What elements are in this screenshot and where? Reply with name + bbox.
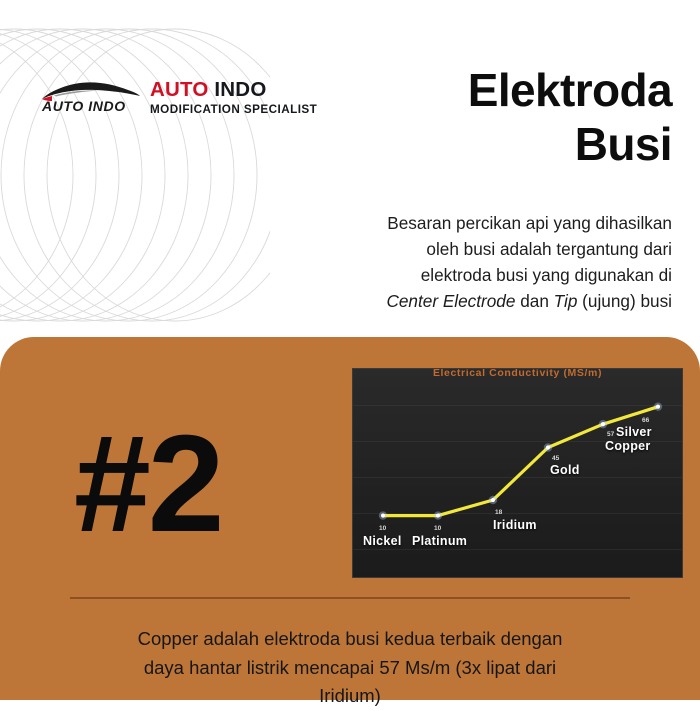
intro-paragraph: Besaran percikan api yang dihasilkan ole…: [272, 210, 672, 315]
chart-point-value: 10: [434, 525, 441, 532]
brand-name-auto: AUTO: [150, 78, 209, 101]
conductivity-chart: Electrical Conductivity (MS/m) 10Nickel1…: [352, 368, 683, 578]
footnote-line-3: Iridium): [60, 682, 640, 711]
car-silhouette-icon: AUTO INDO: [36, 78, 142, 122]
decorative-rings-pattern: [0, 25, 270, 325]
chart-point-label: Iridium: [493, 518, 537, 532]
page-title-line1: Elektroda: [252, 64, 672, 118]
chart-point-label: Gold: [550, 463, 580, 477]
intro-term-center-electrode: Center Electrode: [386, 291, 515, 311]
panel-divider: [70, 597, 630, 599]
footnote-text: Copper adalah elektroda busi kedua terba…: [60, 625, 640, 711]
chart-point-value: 57: [607, 431, 614, 438]
footnote-line-2: daya hantar listrik mencapai 57 Ms/m (3x…: [60, 654, 640, 683]
intro-line-4: Center Electrode dan Tip (ujung) busi: [272, 288, 672, 314]
page-title: Elektroda Busi: [252, 64, 672, 172]
brand-mark-word: AUTO INDO: [42, 98, 126, 114]
intro-conjunction: dan: [515, 291, 553, 311]
intro-line4-tail: (ujung) busi: [577, 291, 672, 311]
rank-number: #2: [74, 415, 222, 553]
chart-point-label: Nickel: [363, 534, 402, 548]
chart-plot-area: [353, 369, 683, 578]
chart-point-label: Silver: [616, 425, 652, 439]
chart-point-label: Platinum: [412, 534, 467, 548]
chart-point-value: 66: [642, 417, 649, 424]
intro-line-3: elektroda busi yang digunakan di: [272, 262, 672, 288]
chart-point-value: 45: [552, 455, 559, 462]
header-section: AUTO INDO AUTO INDO MODIFICATION SPECIAL…: [0, 0, 700, 340]
intro-line-2: oleh busi adalah tergantung dari: [272, 236, 672, 262]
chart-point-label: Copper: [605, 439, 651, 453]
footnote-line-1: Copper adalah elektroda busi kedua terba…: [60, 625, 640, 654]
page-title-line2: Busi: [252, 118, 672, 172]
intro-term-tip: Tip: [554, 291, 578, 311]
chart-point-value: 18: [495, 509, 502, 516]
intro-line-1: Besaran percikan api yang dihasilkan: [272, 210, 672, 236]
chart-point-value: 10: [379, 525, 386, 532]
